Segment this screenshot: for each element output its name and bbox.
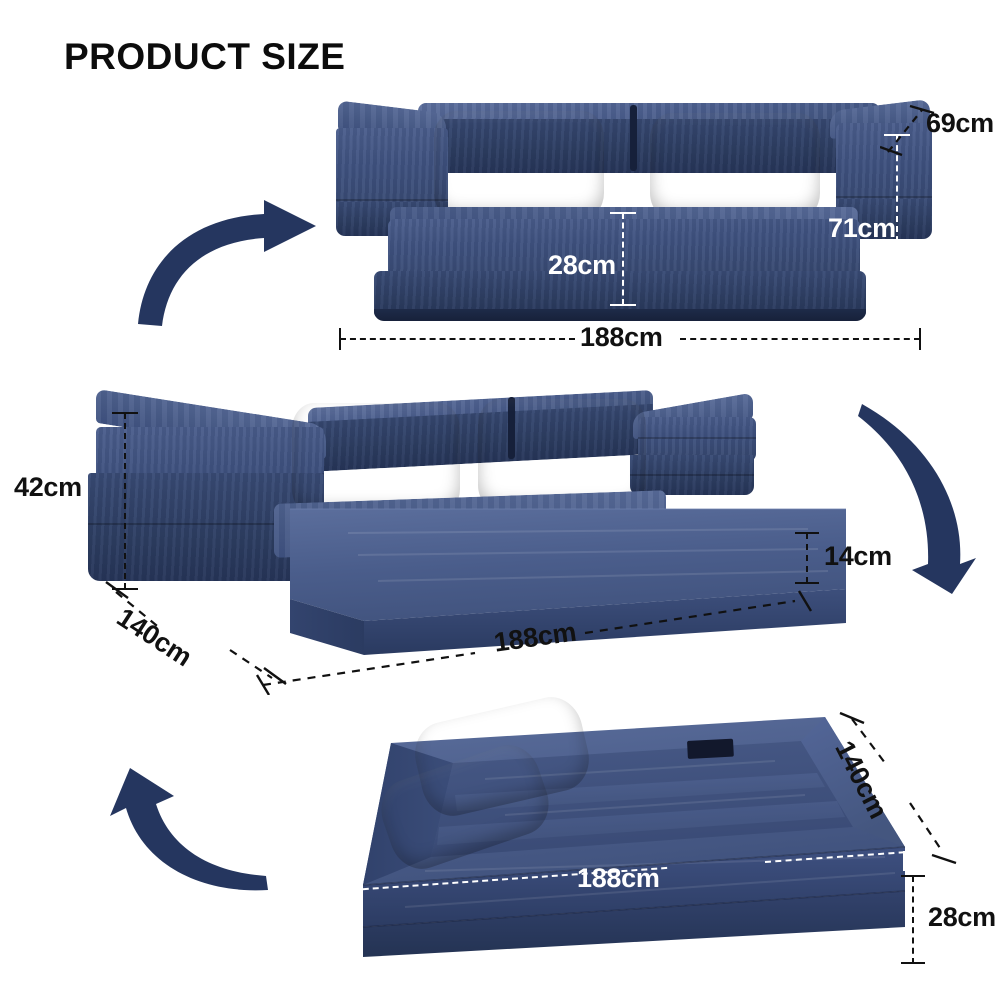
dim-label-lounger-height: 42cm bbox=[14, 472, 82, 503]
dim-line-lounger-height bbox=[124, 413, 126, 589]
dim-line-sofa-width-right bbox=[680, 338, 920, 340]
dim-label-sofa-depth: 69cm bbox=[926, 108, 994, 139]
dim-line-sofa-width-left bbox=[340, 338, 575, 340]
dim-label-sofa-width: 188cm bbox=[580, 322, 663, 353]
dim-line-seat-height bbox=[622, 213, 624, 305]
back-pillow bbox=[434, 111, 604, 219]
dim-line-bed-height bbox=[912, 876, 914, 964]
dim-label-bed-width: 188cm bbox=[577, 863, 660, 894]
dim-label-sofa-height: 71cm bbox=[828, 213, 896, 244]
dim-line-sofa-height bbox=[896, 135, 898, 313]
dim-line-mattress-thickness bbox=[806, 533, 808, 583]
dim-label-bed-height: 28cm bbox=[928, 902, 996, 933]
page-title: PRODUCT SIZE bbox=[64, 36, 345, 78]
sofa-mode-illustration: 28cm 71cm bbox=[330, 95, 940, 325]
bed-mode-illustration: 188cm bbox=[305, 695, 925, 965]
curved-arrow-right-icon bbox=[128, 188, 328, 328]
curved-arrow-up-icon bbox=[82, 748, 272, 938]
dim-label-seat-height: 28cm bbox=[548, 250, 616, 281]
curved-arrow-down-icon bbox=[856, 398, 1000, 598]
back-pillow bbox=[650, 113, 820, 219]
